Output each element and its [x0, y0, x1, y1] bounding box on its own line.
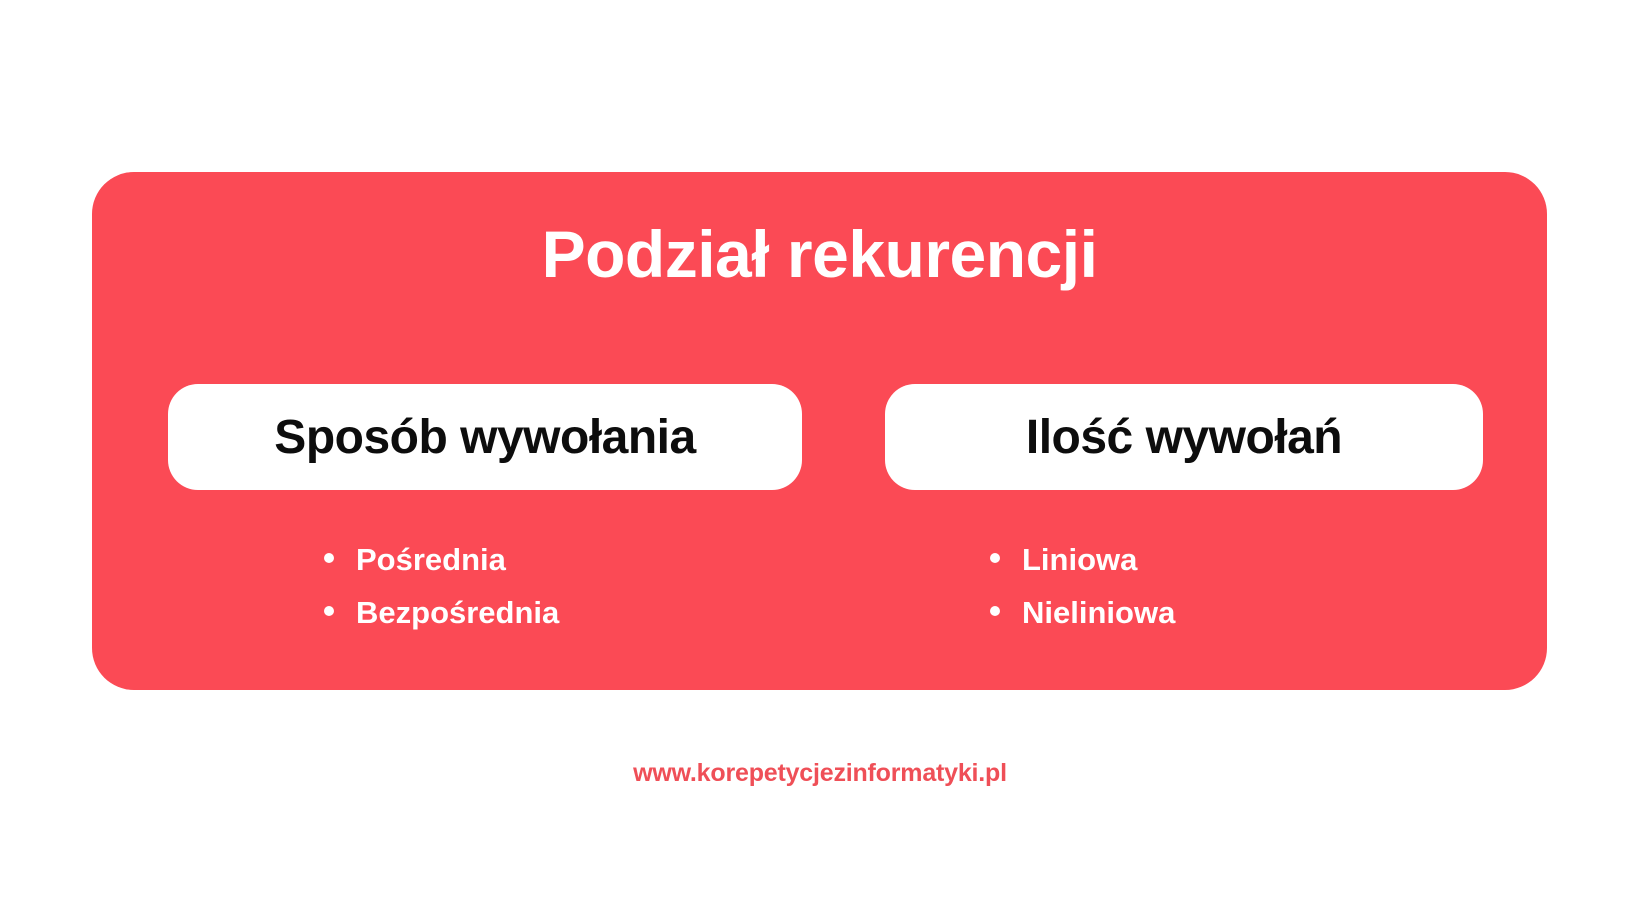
- list-item: Pośrednia: [324, 544, 559, 575]
- category-heading-label: Sposób wywołania: [274, 410, 695, 465]
- list-item-label: Pośrednia: [356, 544, 506, 575]
- bullet-dot-icon: [990, 553, 1000, 563]
- list-item: Nieliniowa: [990, 597, 1175, 628]
- category-pill-ilosc-wywolan: Ilość wywołań: [885, 384, 1483, 490]
- list-item-label: Nieliniowa: [1022, 597, 1175, 628]
- infographic-root: Podział rekurencji Sposób wywołania Pośr…: [0, 0, 1640, 924]
- category-list-sposob-wywolania: Pośrednia Bezpośrednia: [324, 544, 559, 650]
- category-list-ilosc-wywolan: Liniowa Nieliniowa: [990, 544, 1175, 650]
- list-item: Liniowa: [990, 544, 1175, 575]
- site-url-footer: www.korepetycjezinformatyki.pl: [0, 759, 1640, 788]
- bullet-dot-icon: [990, 606, 1000, 616]
- bullet-dot-icon: [324, 606, 334, 616]
- category-pill-sposob-wywolania: Sposób wywołania: [168, 384, 802, 490]
- page-title: Podział rekurencji: [92, 218, 1547, 291]
- bullet-dot-icon: [324, 553, 334, 563]
- list-item-label: Liniowa: [1022, 544, 1137, 575]
- list-item-label: Bezpośrednia: [356, 597, 559, 628]
- category-heading-label: Ilość wywołań: [1026, 410, 1342, 465]
- list-item: Bezpośrednia: [324, 597, 559, 628]
- recursion-division-card: Podział rekurencji Sposób wywołania Pośr…: [92, 172, 1547, 690]
